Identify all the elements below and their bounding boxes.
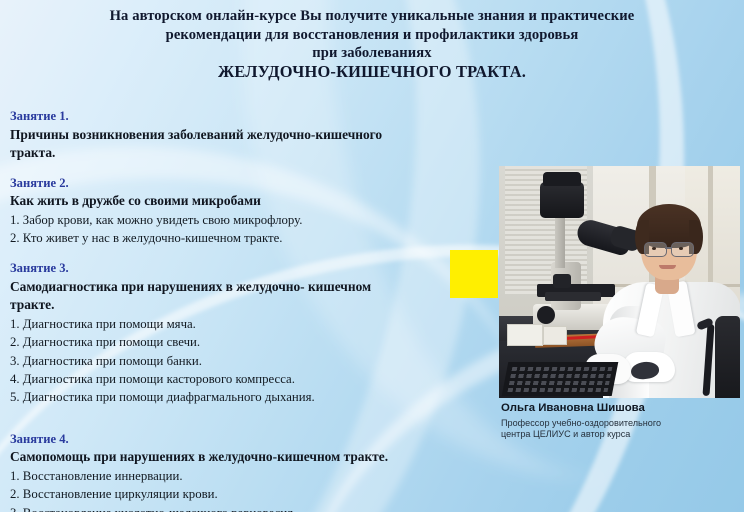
lesson-block-1: Занятие 1. Причины возникновения заболев… [10,108,480,163]
spacer-1 [10,163,480,175]
lesson-3-item-5: 5. Диагностика при помощи диафрагмальног… [10,388,480,406]
lesson-3-item-3: 3. Диагностика при помощи банки. [10,352,480,370]
photo-eye-right [679,247,683,250]
photo-glasses-bridge [665,247,672,249]
title-line-3: при заболеваниях [0,44,744,63]
photo-glasses-left-lens [644,242,667,257]
caption-role-line-2: центра ЦЕЛИУС и автор курса [501,429,736,440]
lesson-3-item-4: 4. Диагностика при помощи касторового ко… [10,370,480,388]
caption-person-name: Ольга Ивановна Шишова [501,401,736,415]
microscope-objective [553,274,571,288]
lesson-3-item-2: 2. Диагностика при помощи свечи. [10,333,480,351]
lesson-3-label: Занятие 3. [10,260,480,278]
lesson-block-2: Занятие 2. Как жить в дружбе со своими м… [10,175,480,248]
title-line-2: рекомендации для восстановления и профил… [0,26,744,45]
lesson-2-label: Занятие 2. [10,175,480,193]
lesson-3-heading-line-1: Самодиагностика при нарушениях в желудоч… [10,278,480,297]
microscope-focus-knob [537,306,555,324]
lesson-1-label: Занятие 1. [10,108,480,126]
photo-eye-left [652,247,656,250]
microscope-stage-lower [545,292,601,301]
lesson-4-item-3: 3. Восстановление кислотно-щелочного рав… [10,504,480,512]
spacer-3 [10,407,480,431]
keyboard-row-4 [507,388,608,392]
photo-slide-box-2 [543,326,567,345]
lesson-4-item-1: 1. Восстановление иннервации. [10,467,480,485]
photo-mouth [659,265,676,269]
lesson-2-item-1: 1. Забор крови, как можно увидеть свою м… [10,211,480,229]
caption-role-line-1: Профессор учебно-оздоровительного [501,418,736,429]
keyboard-row-3 [509,381,610,385]
microscope-camera-head [540,182,584,218]
lesson-2-heading-line-1: Как жить в дружбе со своими микробами [10,192,480,211]
yellow-accent-block [450,250,498,298]
lesson-3-heading-line-2: тракте. [10,296,480,315]
title-line-1: На авторском онлайн-курсе Вы получите ун… [0,7,744,26]
lesson-4-heading-line-1: Самопомощь при нарушениях в желудочно-ки… [10,448,480,467]
photo-chair-back [715,316,740,398]
photo-slide-box-1 [507,324,543,346]
photo-glasses-right-lens [671,242,694,257]
keyboard-row-2 [510,374,611,378]
portrait-photo [499,166,740,398]
lesson-3-item-1: 1. Диагностика при помощи мяча. [10,315,480,333]
lesson-list: Занятие 1. Причины возникновения заболев… [10,108,480,512]
lesson-4-item-2: 2. Восстановление циркуляции крови. [10,485,480,503]
lesson-2-item-2: 2. Кто живет у нас в желудочно-кишечном … [10,229,480,247]
lesson-1-heading-line-1: Причины возникновения заболеваний желудо… [10,126,480,145]
microscope-camera-top [543,172,581,186]
slide-canvas: На авторском онлайн-курсе Вы получите ун… [0,0,744,512]
photo-keyboard [502,362,619,396]
lesson-4-label: Занятие 4. [10,431,480,449]
slide-title: На авторском онлайн-курсе Вы получите ун… [0,7,744,81]
lesson-block-3: Занятие 3. Самодиагностика при нарушения… [10,260,480,407]
title-emphasis: ЖЕЛУДОЧНО-КИШЕЧНОГО ТРАКТА. [0,63,744,82]
photo-caption: Ольга Ивановна Шишова Профессор учебно-о… [501,401,736,440]
spacer-2 [10,247,480,260]
lesson-1-heading-line-2: тракта. [10,144,480,163]
lesson-block-4: Занятие 4. Самопомощь при нарушениях в ж… [10,431,480,512]
keyboard-row-1 [512,367,613,371]
